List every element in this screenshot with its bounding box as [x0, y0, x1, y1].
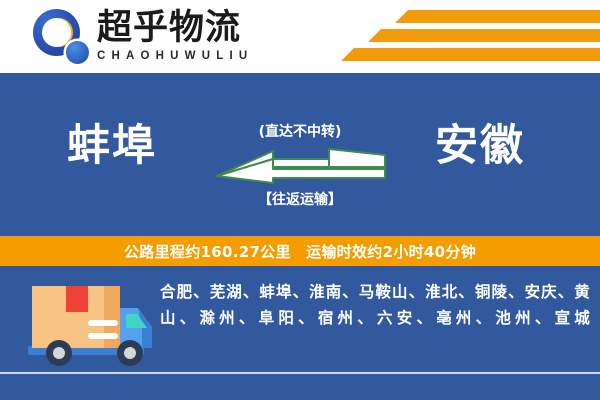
route-destination-city: 安徽 — [385, 121, 575, 171]
route-hero-section: 蚌埠 (直达不中转) 【往返运输】 安徽 — [0, 73, 600, 236]
chaohu-q-logo-icon — [33, 9, 91, 65]
route-note-roundtrip: 【往返运输】 — [205, 191, 395, 209]
brand-name: 超乎物流 — [97, 8, 277, 48]
brand-block: 超乎物流 CHAOHUWULIU — [97, 8, 277, 63]
logo-dot-shape — [66, 41, 89, 64]
route-info-band: 公路里程约160.27公里 运输时效约2小时40分钟 — [0, 236, 600, 266]
brand-pinyin: CHAOHUWULIU — [97, 49, 277, 63]
logistics-route-banner: 超乎物流 CHAOHUWULIU 蚌埠 (直达不中转) 【往返运输】 安徽 — [0, 0, 600, 400]
stripe-1 — [395, 10, 600, 23]
route-info-text: 公路里程约160.27公里 运输时效约2小时40分钟 — [124, 241, 476, 262]
stripe-3 — [341, 48, 600, 61]
route-note-direct: (直达不中转) — [205, 123, 395, 141]
delivery-truck-icon — [22, 276, 157, 368]
double-headed-arrow-icon — [215, 147, 387, 185]
coverage-city-list: 合肥、芜湖、蚌埠、淮南、马鞍山、淮北、铜陵、安庆、黄山、滁州、阜阳、宿州、六安、… — [160, 279, 590, 331]
road-line-divider — [0, 372, 600, 374]
stripe-2 — [368, 29, 600, 42]
header-bar: 超乎物流 CHAOHUWULIU — [0, 0, 600, 73]
route-origin-city: 蚌埠 — [17, 121, 207, 171]
orange-stripes-decor-icon — [340, 10, 600, 66]
coverage-footer-section: 合肥、芜湖、蚌埠、淮南、马鞍山、淮北、铜陵、安庆、黄山、滁州、阜阳、宿州、六安、… — [0, 266, 600, 400]
logo-crescent-cutout — [42, 18, 71, 47]
route-display: 蚌埠 (直达不中转) 【往返运输】 安徽 — [0, 73, 600, 236]
